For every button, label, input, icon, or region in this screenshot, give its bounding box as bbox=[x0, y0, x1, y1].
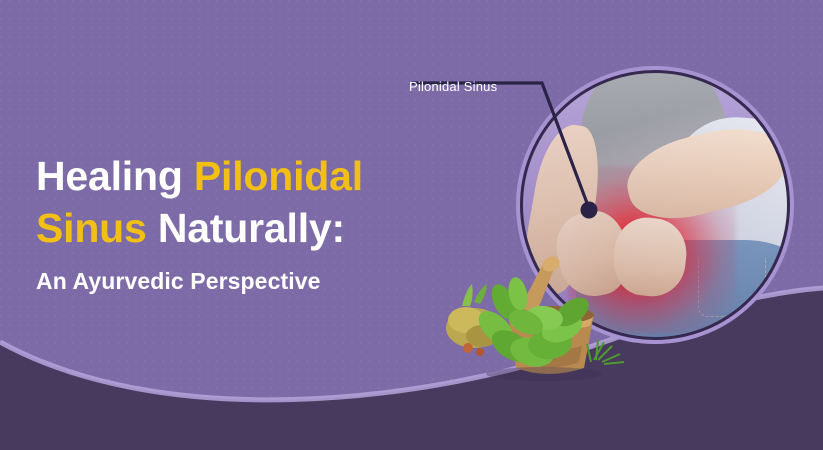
title-line-1: Healing Pilonidal bbox=[36, 150, 363, 202]
headline-block: Healing Pilonidal Sinus Naturally: An Ay… bbox=[36, 150, 363, 295]
callout-label: Pilonidal Sinus bbox=[409, 79, 497, 94]
title-word-sinus: Sinus bbox=[36, 205, 147, 251]
subtitle: An Ayurvedic Perspective bbox=[36, 268, 363, 295]
title-word-healing: Healing bbox=[36, 153, 194, 199]
title-word-naturally: Naturally: bbox=[147, 205, 345, 251]
callout-dot bbox=[581, 202, 598, 219]
banner-root: Pilonidal Sinus bbox=[0, 0, 823, 450]
title-word-pilonidal: Pilonidal bbox=[194, 153, 363, 199]
herbs-shadow bbox=[486, 367, 602, 381]
rosemary-sprigs bbox=[587, 340, 624, 364]
herbs-mortar-pestle bbox=[444, 256, 634, 382]
title-line-2: Sinus Naturally: bbox=[36, 202, 363, 254]
